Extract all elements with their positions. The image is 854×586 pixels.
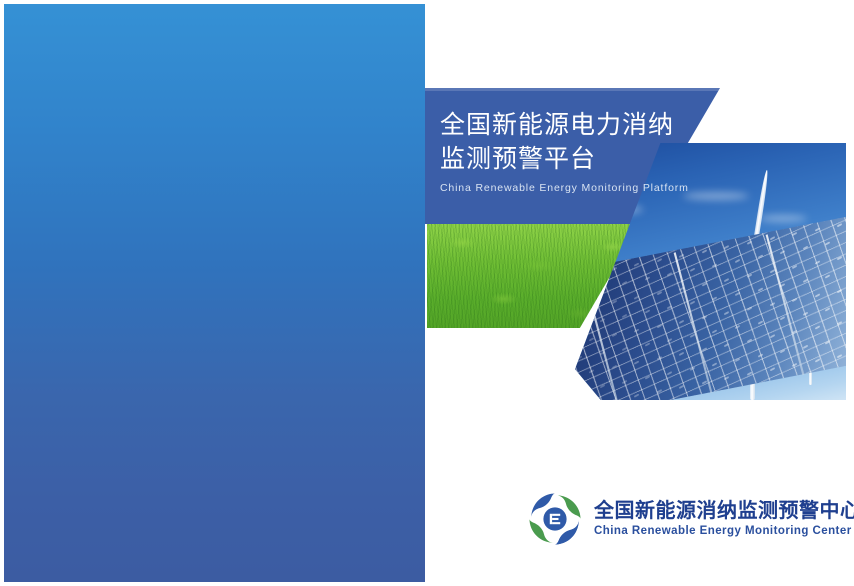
solar-cell-highlight xyxy=(657,258,662,262)
cloud-shape xyxy=(759,215,807,222)
solar-cell-highlight xyxy=(780,250,785,254)
solar-cell-highlight xyxy=(690,300,695,304)
solar-cell-highlight xyxy=(724,376,729,380)
solar-cell-highlight xyxy=(757,353,762,357)
solar-cell-highlight xyxy=(645,309,650,313)
solar-cell-highlight xyxy=(712,362,717,366)
monogram-bar-mid xyxy=(552,518,558,520)
organization-lockup: 全国新能源消纳监测预警中心 China Renewable Energy Mon… xyxy=(526,490,854,548)
solar-cell-highlight xyxy=(702,314,707,318)
solar-cell-highlight xyxy=(792,330,797,334)
solar-cell-highlight xyxy=(747,371,752,375)
solar-cell-highlight xyxy=(769,301,774,305)
solar-cell-highlight xyxy=(702,347,707,351)
solar-cell-highlight xyxy=(600,384,605,388)
solar-cell-highlight xyxy=(792,363,797,367)
solar-cell-highlight xyxy=(622,314,627,318)
title-line-1: 全国新能源电力消纳 xyxy=(440,108,740,142)
solar-cell-highlight xyxy=(577,355,582,359)
solar-cell-highlight xyxy=(837,288,842,292)
cover-title-group: 全国新能源电力消纳 监测预警平台 China Renewable Energy … xyxy=(440,108,740,194)
title-subtitle-english: China Renewable Energy Monitoring Platfo… xyxy=(440,182,740,194)
solar-cell-highlight xyxy=(825,307,830,311)
solar-cell-highlight xyxy=(702,380,707,384)
solar-cell-highlight xyxy=(724,310,729,314)
solar-cell-highlight xyxy=(747,306,752,310)
solar-cell-highlight xyxy=(634,295,639,299)
solar-cell-highlight xyxy=(814,260,819,264)
solar-cell-highlight xyxy=(702,282,707,286)
solar-cell-highlight xyxy=(667,272,672,276)
solar-cell-highlight xyxy=(747,273,752,277)
solar-cell-highlight xyxy=(724,245,729,249)
solar-cell-highlight xyxy=(690,333,695,337)
solar-cell-highlight xyxy=(735,357,740,361)
solar-cell-highlight xyxy=(814,358,819,362)
solar-cell-highlight xyxy=(634,328,639,332)
solar-cell-highlight xyxy=(780,316,785,320)
monogram-bar-bottom xyxy=(552,522,560,524)
solar-cell-highlight xyxy=(724,277,729,281)
solar-cell-highlight xyxy=(622,346,627,350)
solar-cell-highlight xyxy=(645,375,650,379)
solar-cell-highlight xyxy=(803,344,808,348)
solar-cell-highlight xyxy=(803,246,808,250)
renewable-energy-swirl-logo-icon xyxy=(526,490,584,548)
solar-cell-highlight xyxy=(612,332,617,336)
solar-cell-highlight xyxy=(712,296,717,300)
left-gradient-panel xyxy=(4,4,425,582)
solar-cell-highlight xyxy=(712,329,717,333)
solar-cell-highlight xyxy=(735,324,740,328)
solar-cell-highlight xyxy=(667,305,672,309)
solar-cell-highlight xyxy=(803,311,808,315)
solar-cell-highlight xyxy=(757,254,762,258)
solar-cell-highlight xyxy=(702,249,707,253)
solar-cell-highlight xyxy=(757,320,762,324)
solar-cell-highlight xyxy=(667,338,672,342)
solar-cell-highlight xyxy=(837,223,842,227)
solar-cell-highlight xyxy=(577,388,582,392)
solar-cell-highlight xyxy=(622,281,627,285)
solar-cell-highlight xyxy=(769,236,774,240)
solar-cell-highlight xyxy=(679,253,684,257)
solar-cell-highlight xyxy=(792,297,797,301)
solar-cell-highlight xyxy=(589,369,594,373)
solar-cell-highlight xyxy=(757,287,762,291)
solar-cell-highlight xyxy=(769,269,774,273)
solar-cell-highlight xyxy=(712,263,717,267)
solar-cell-highlight xyxy=(724,343,729,347)
solar-cell-highlight xyxy=(780,348,785,352)
solar-cell-highlight xyxy=(825,340,830,344)
solar-cell-highlight xyxy=(814,227,819,231)
solar-cell-highlight xyxy=(747,240,752,244)
solar-cell-highlight xyxy=(690,268,695,272)
solar-cell-highlight xyxy=(645,342,650,346)
organization-name-group: 全国新能源消纳监测预警中心 China Renewable Energy Mon… xyxy=(594,500,854,539)
solar-cell-highlight xyxy=(837,354,842,358)
solar-cell-highlight xyxy=(679,352,684,356)
title-line-2: 监测预警平台 xyxy=(440,142,740,176)
solar-cell-highlight xyxy=(792,231,797,235)
solar-cell-highlight xyxy=(679,384,684,388)
organization-name-chinese: 全国新能源消纳监测预警中心 xyxy=(594,500,854,523)
solar-cell-highlight xyxy=(612,299,617,303)
monogram-bar-top xyxy=(552,514,560,516)
solar-cell-highlight xyxy=(814,293,819,297)
solar-cell-highlight xyxy=(645,276,650,280)
solar-cell-highlight xyxy=(634,393,639,397)
organization-name-english: China Renewable Energy Monitoring Center xyxy=(594,524,854,539)
monogram-stem xyxy=(550,514,552,524)
solar-cell-highlight xyxy=(825,241,830,245)
solar-cell-highlight xyxy=(825,274,830,278)
solar-cell-highlight xyxy=(657,389,662,393)
solar-cell-highlight xyxy=(792,264,797,268)
brochure-cover: 全国新能源电力消纳 监测预警平台 China Renewable Energy … xyxy=(0,0,854,586)
solar-cell-highlight xyxy=(589,336,594,340)
solar-cell-highlight xyxy=(735,259,740,263)
solar-cell-highlight xyxy=(679,319,684,323)
solar-cell-highlight xyxy=(657,356,662,360)
solar-cell-highlight xyxy=(769,367,774,371)
solar-cell-highlight xyxy=(690,366,695,370)
solar-cell-highlight xyxy=(747,339,752,343)
solar-cell-highlight xyxy=(769,334,774,338)
solar-cell-highlight xyxy=(814,325,819,329)
solar-cell-highlight xyxy=(612,365,617,369)
solar-cell-highlight xyxy=(837,321,842,325)
solar-cell-highlight xyxy=(657,323,662,327)
solar-cell-highlight xyxy=(612,398,617,400)
solar-cell-highlight xyxy=(634,262,639,266)
solar-cell-highlight xyxy=(667,370,672,374)
solar-cell-highlight xyxy=(622,379,627,383)
solar-cell-highlight xyxy=(657,290,662,294)
solar-cell-highlight xyxy=(803,279,808,283)
solar-cell-highlight xyxy=(735,292,740,296)
solar-cell-highlight xyxy=(600,318,605,322)
solar-cell-highlight xyxy=(634,360,639,364)
solar-cell-highlight xyxy=(837,255,842,259)
